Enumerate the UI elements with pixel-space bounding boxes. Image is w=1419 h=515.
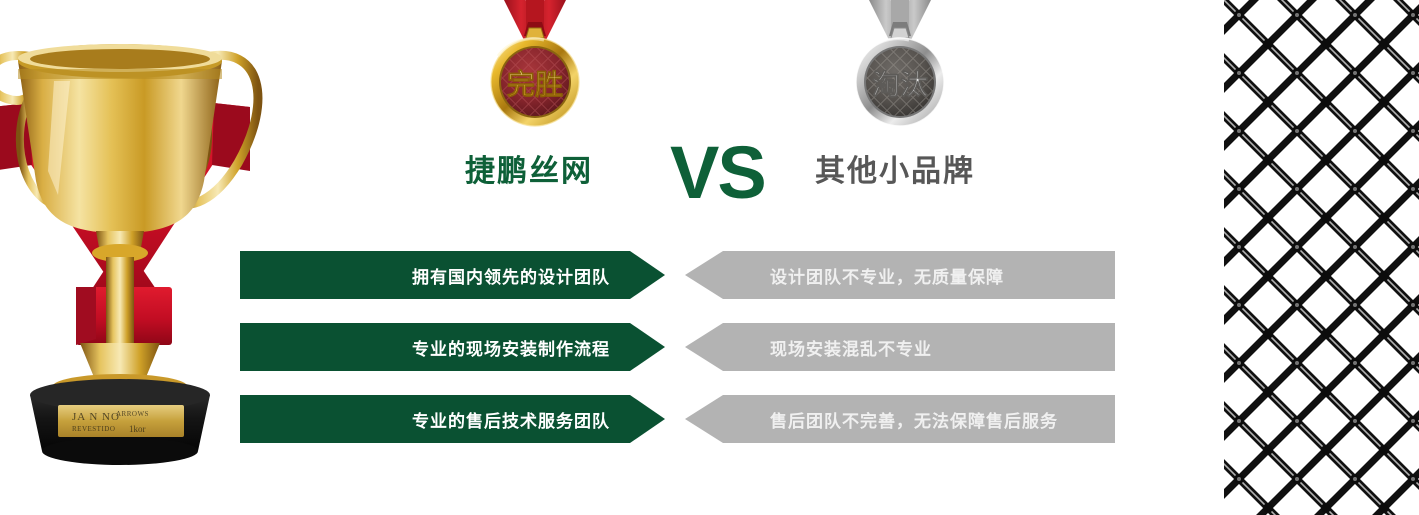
pro-arrow-3: 专业的售后技术服务团队 (240, 395, 665, 443)
pro-arrow-2: 专业的现场安装制作流程 (240, 323, 665, 371)
svg-text:REVESTIDO: REVESTIDO (72, 425, 115, 433)
other-brand-label: 其他小品牌 (815, 145, 975, 199)
chain-link-fence-icon (1224, 0, 1419, 515)
gold-medal: 完胜 (470, 0, 600, 135)
chain-link-fence-illustration (1224, 0, 1419, 515)
pro-text-1: 拥有国内领先的设计团队 (412, 263, 610, 288)
comparison-row: 专业的现场安装制作流程 现场安装混乱不专业 (240, 323, 1115, 371)
silver-medal-label: 淘汰 (872, 68, 928, 101)
svg-text:JA N NO: JA N NO (72, 411, 120, 423)
gold-medal-icon: 完胜 (470, 0, 600, 135)
silver-medal: 淘汰 (835, 0, 965, 135)
svg-text:ARROWS: ARROWS (116, 410, 149, 418)
pro-arrow-1: 拥有国内领先的设计团队 (240, 251, 665, 299)
silver-medal-icon: 淘汰 (835, 0, 965, 135)
con-text-3: 售后团队不完善，无法保障售后服务 (770, 407, 1058, 432)
con-arrow-2: 现场安装混乱不专业 (685, 323, 1115, 371)
vs-label: VS (670, 133, 765, 213)
con-text-2: 现场安装混乱不专业 (770, 335, 932, 360)
con-arrow-3: 售后团队不完善，无法保障售后服务 (685, 395, 1115, 443)
brand-label-row: 捷鹏丝网 VS 其他小品牌 (430, 145, 1030, 205)
our-brand-label: 捷鹏丝网 (465, 145, 593, 199)
con-text-1: 设计团队不专业，无质量保障 (770, 263, 1004, 288)
promo-banner: JA N NO ARROWS REVESTIDO 1kor (0, 0, 1419, 515)
comparison-table: 拥有国内领先的设计团队 设计团队不专业，无质量保障 专业的现场安装制作流程 现场… (240, 251, 1115, 451)
comparison-row: 拥有国内领先的设计团队 设计团队不专业，无质量保障 (240, 251, 1115, 299)
pro-text-2: 专业的现场安装制作流程 (412, 335, 610, 360)
gold-medal-label: 完胜 (507, 68, 563, 101)
pro-text-3: 专业的售后技术服务团队 (412, 407, 610, 432)
comparison-row: 专业的售后技术服务团队 售后团队不完善，无法保障售后服务 (240, 395, 1115, 443)
svg-text:1kor: 1kor (129, 424, 146, 434)
con-arrow-1: 设计团队不专业，无质量保障 (685, 251, 1115, 299)
